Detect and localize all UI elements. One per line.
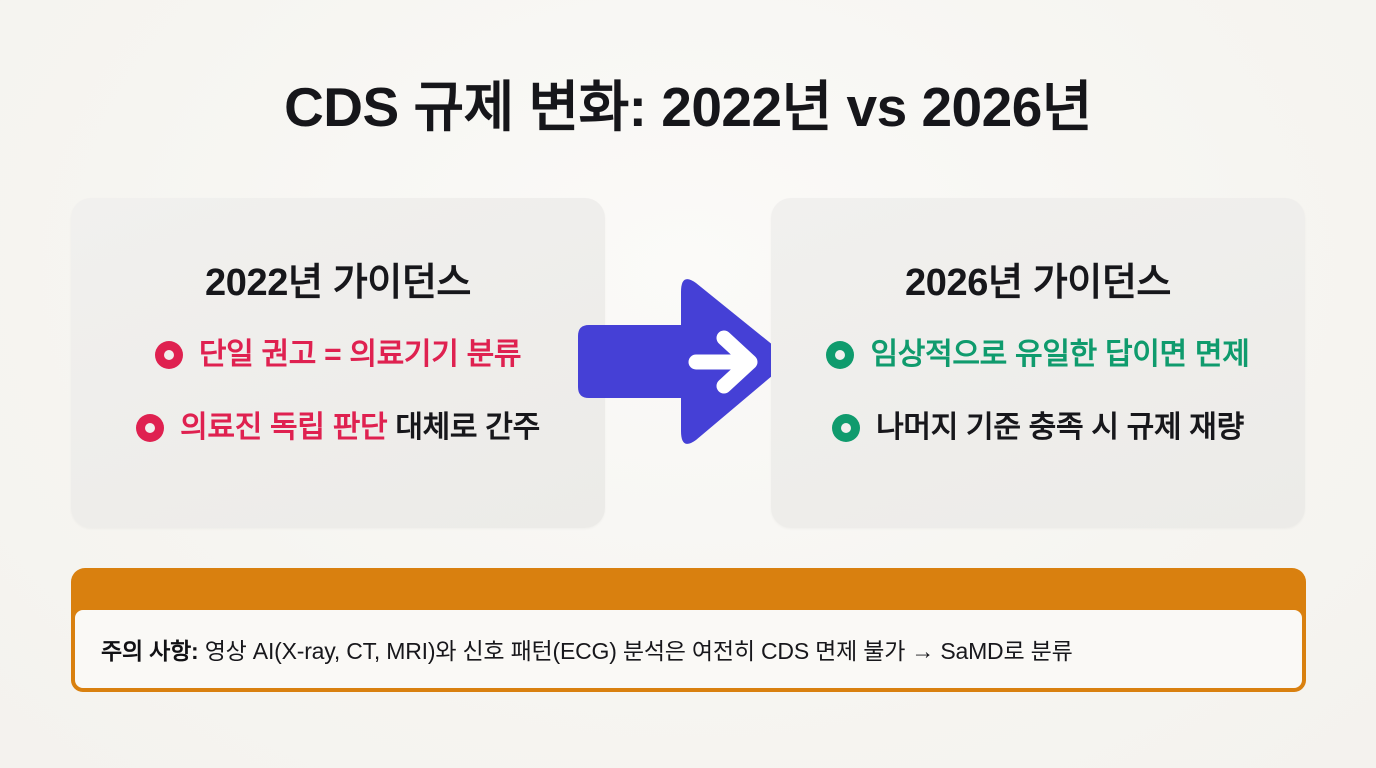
warning-body: 영상 AI(X-ray, CT, MRI)와 신호 패턴(ECG) 분석은 여전… <box>199 638 1073 664</box>
card-left-bullet-list: 단일 권고 = 의료기기 분류 의료진 독립 판단 대체로 간주 <box>71 338 605 445</box>
warning-label: 주의 사항: <box>101 638 199 664</box>
bullet-text: 나머지 기준 충족 시 규제 재량 <box>876 411 1244 446</box>
bullet-text: 단일 권고 = 의료기기 분류 <box>199 338 521 373</box>
warning-banner-panel: 주의 사항: 영상 AI(X-ray, CT, MRI)와 신호 패턴(ECG)… <box>71 606 1306 692</box>
bullet-text: 임상적으로 유일한 답이면 면제 <box>870 338 1249 373</box>
card-left-heading: 2022년 가이던스 <box>71 251 605 306</box>
red-target-bullet-icon <box>136 414 164 442</box>
transition-arrow <box>578 268 788 460</box>
warning-text: 주의 사항: 영상 AI(X-ray, CT, MRI)와 신호 패턴(ECG)… <box>101 632 1073 666</box>
bullet-highlight: 임상적으로 유일한 답이면 면제 <box>870 338 1249 371</box>
card-guidance-2022: 2022년 가이던스 단일 권고 = 의료기기 분류 의료진 독립 판단 대체로… <box>71 198 605 528</box>
bullet-highlight: 단일 권고 = 의료기기 분류 <box>199 338 521 371</box>
list-item: 단일 권고 = 의료기기 분류 <box>155 338 521 373</box>
bullet-rest: 대체로 간주 <box>387 411 540 444</box>
green-target-bullet-icon <box>832 414 860 442</box>
red-target-bullet-icon <box>155 341 183 369</box>
list-item: 나머지 기준 충족 시 규제 재량 <box>832 411 1244 446</box>
list-item: 의료진 독립 판단 대체로 간주 <box>136 411 540 446</box>
warning-banner: 주의 사항: 영상 AI(X-ray, CT, MRI)와 신호 패턴(ECG)… <box>71 568 1306 692</box>
green-target-bullet-icon <box>826 341 854 369</box>
bullet-text: 의료진 독립 판단 대체로 간주 <box>180 411 540 446</box>
page-title: CDS 규제 변화: 2022년 vs 2026년 <box>0 62 1376 142</box>
card-guidance-2026: 2026년 가이던스 임상적으로 유일한 답이면 면제 나머지 기준 충족 시 … <box>771 198 1305 528</box>
bullet-highlight: 의료진 독립 판단 <box>180 411 387 444</box>
card-right-bullet-list: 임상적으로 유일한 답이면 면제 나머지 기준 충족 시 규제 재량 <box>771 338 1305 445</box>
card-right-heading: 2026년 가이던스 <box>771 251 1305 306</box>
right-arrow-icon <box>578 268 788 460</box>
bullet-rest: 나머지 기준 충족 시 규제 재량 <box>876 411 1244 444</box>
list-item: 임상적으로 유일한 답이면 면제 <box>826 338 1249 373</box>
slide-canvas: CDS 규제 변화: 2022년 vs 2026년 2022년 가이던스 단일 … <box>0 0 1376 768</box>
